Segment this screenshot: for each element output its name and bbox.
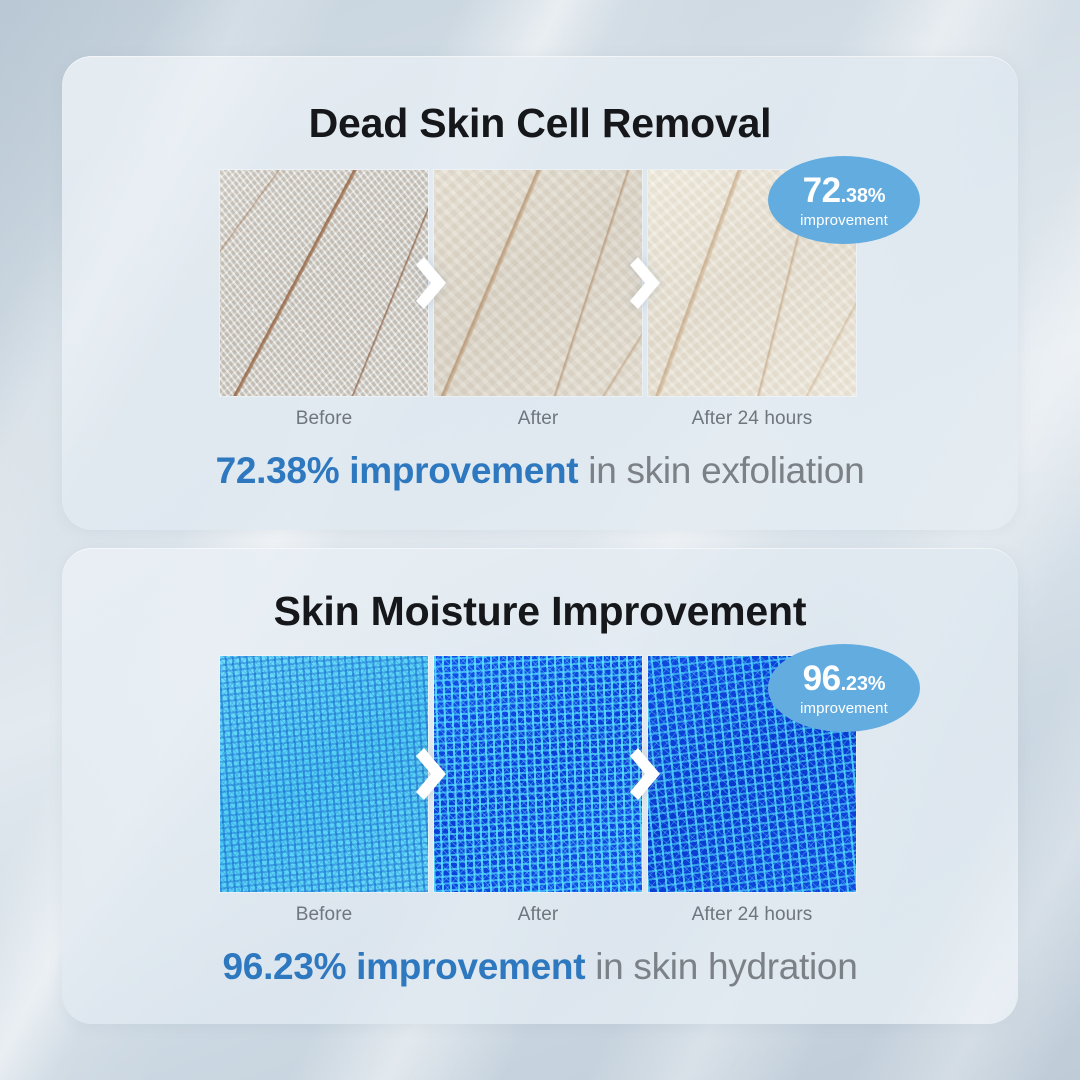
statement-rest: in skin hydration <box>585 946 857 987</box>
panel-title: Dead Skin Cell Removal <box>62 100 1018 147</box>
improvement-badge: 96 .23% improvement <box>768 644 920 732</box>
statement-rest: in skin exfoliation <box>578 450 864 491</box>
label-before: Before <box>220 904 428 926</box>
comparison-image-before <box>220 170 428 396</box>
label-after: After <box>434 408 642 430</box>
badge-percent-fraction: .23% <box>841 674 886 694</box>
badge-percent-fraction: .38% <box>841 186 886 206</box>
label-before: Before <box>220 408 428 430</box>
badge-subtitle: improvement <box>800 213 888 228</box>
badge-subtitle: improvement <box>800 701 888 716</box>
comparison-image-row <box>220 656 856 892</box>
panel-title: Skin Moisture Improvement <box>62 588 1018 635</box>
statement-highlight: 72.38% improvement <box>216 450 579 491</box>
badge-percent: 72 .38% <box>803 173 886 208</box>
improvement-badge: 72 .38% improvement <box>768 156 920 244</box>
infographic-stage: Dead Skin Cell Removal 72 .38% improveme… <box>0 0 1080 1080</box>
badge-percent-whole: 96 <box>803 661 841 696</box>
label-after-24-hours: After 24 hours <box>648 408 856 430</box>
panel-statement: 72.38% improvement in skin exfoliation <box>62 450 1018 492</box>
comparison-image-after <box>434 170 642 396</box>
label-after: After <box>434 904 642 926</box>
comparison-labels: Before After After 24 hours <box>220 904 856 926</box>
comparison-image-after <box>434 656 642 892</box>
comparison-labels: Before After After 24 hours <box>220 408 856 430</box>
badge-percent: 96 .23% <box>803 661 886 696</box>
comparison-image-before <box>220 656 428 892</box>
panel-skin-moisture-improvement: Skin Moisture Improvement 96 .23% improv… <box>62 548 1018 1024</box>
statement-highlight: 96.23% improvement <box>223 946 586 987</box>
panel-dead-skin-cell-removal: Dead Skin Cell Removal 72 .38% improveme… <box>62 56 1018 530</box>
comparison-image-row <box>220 170 856 396</box>
badge-percent-whole: 72 <box>803 173 841 208</box>
label-after-24-hours: After 24 hours <box>648 904 856 926</box>
panel-statement: 96.23% improvement in skin hydration <box>62 946 1018 988</box>
